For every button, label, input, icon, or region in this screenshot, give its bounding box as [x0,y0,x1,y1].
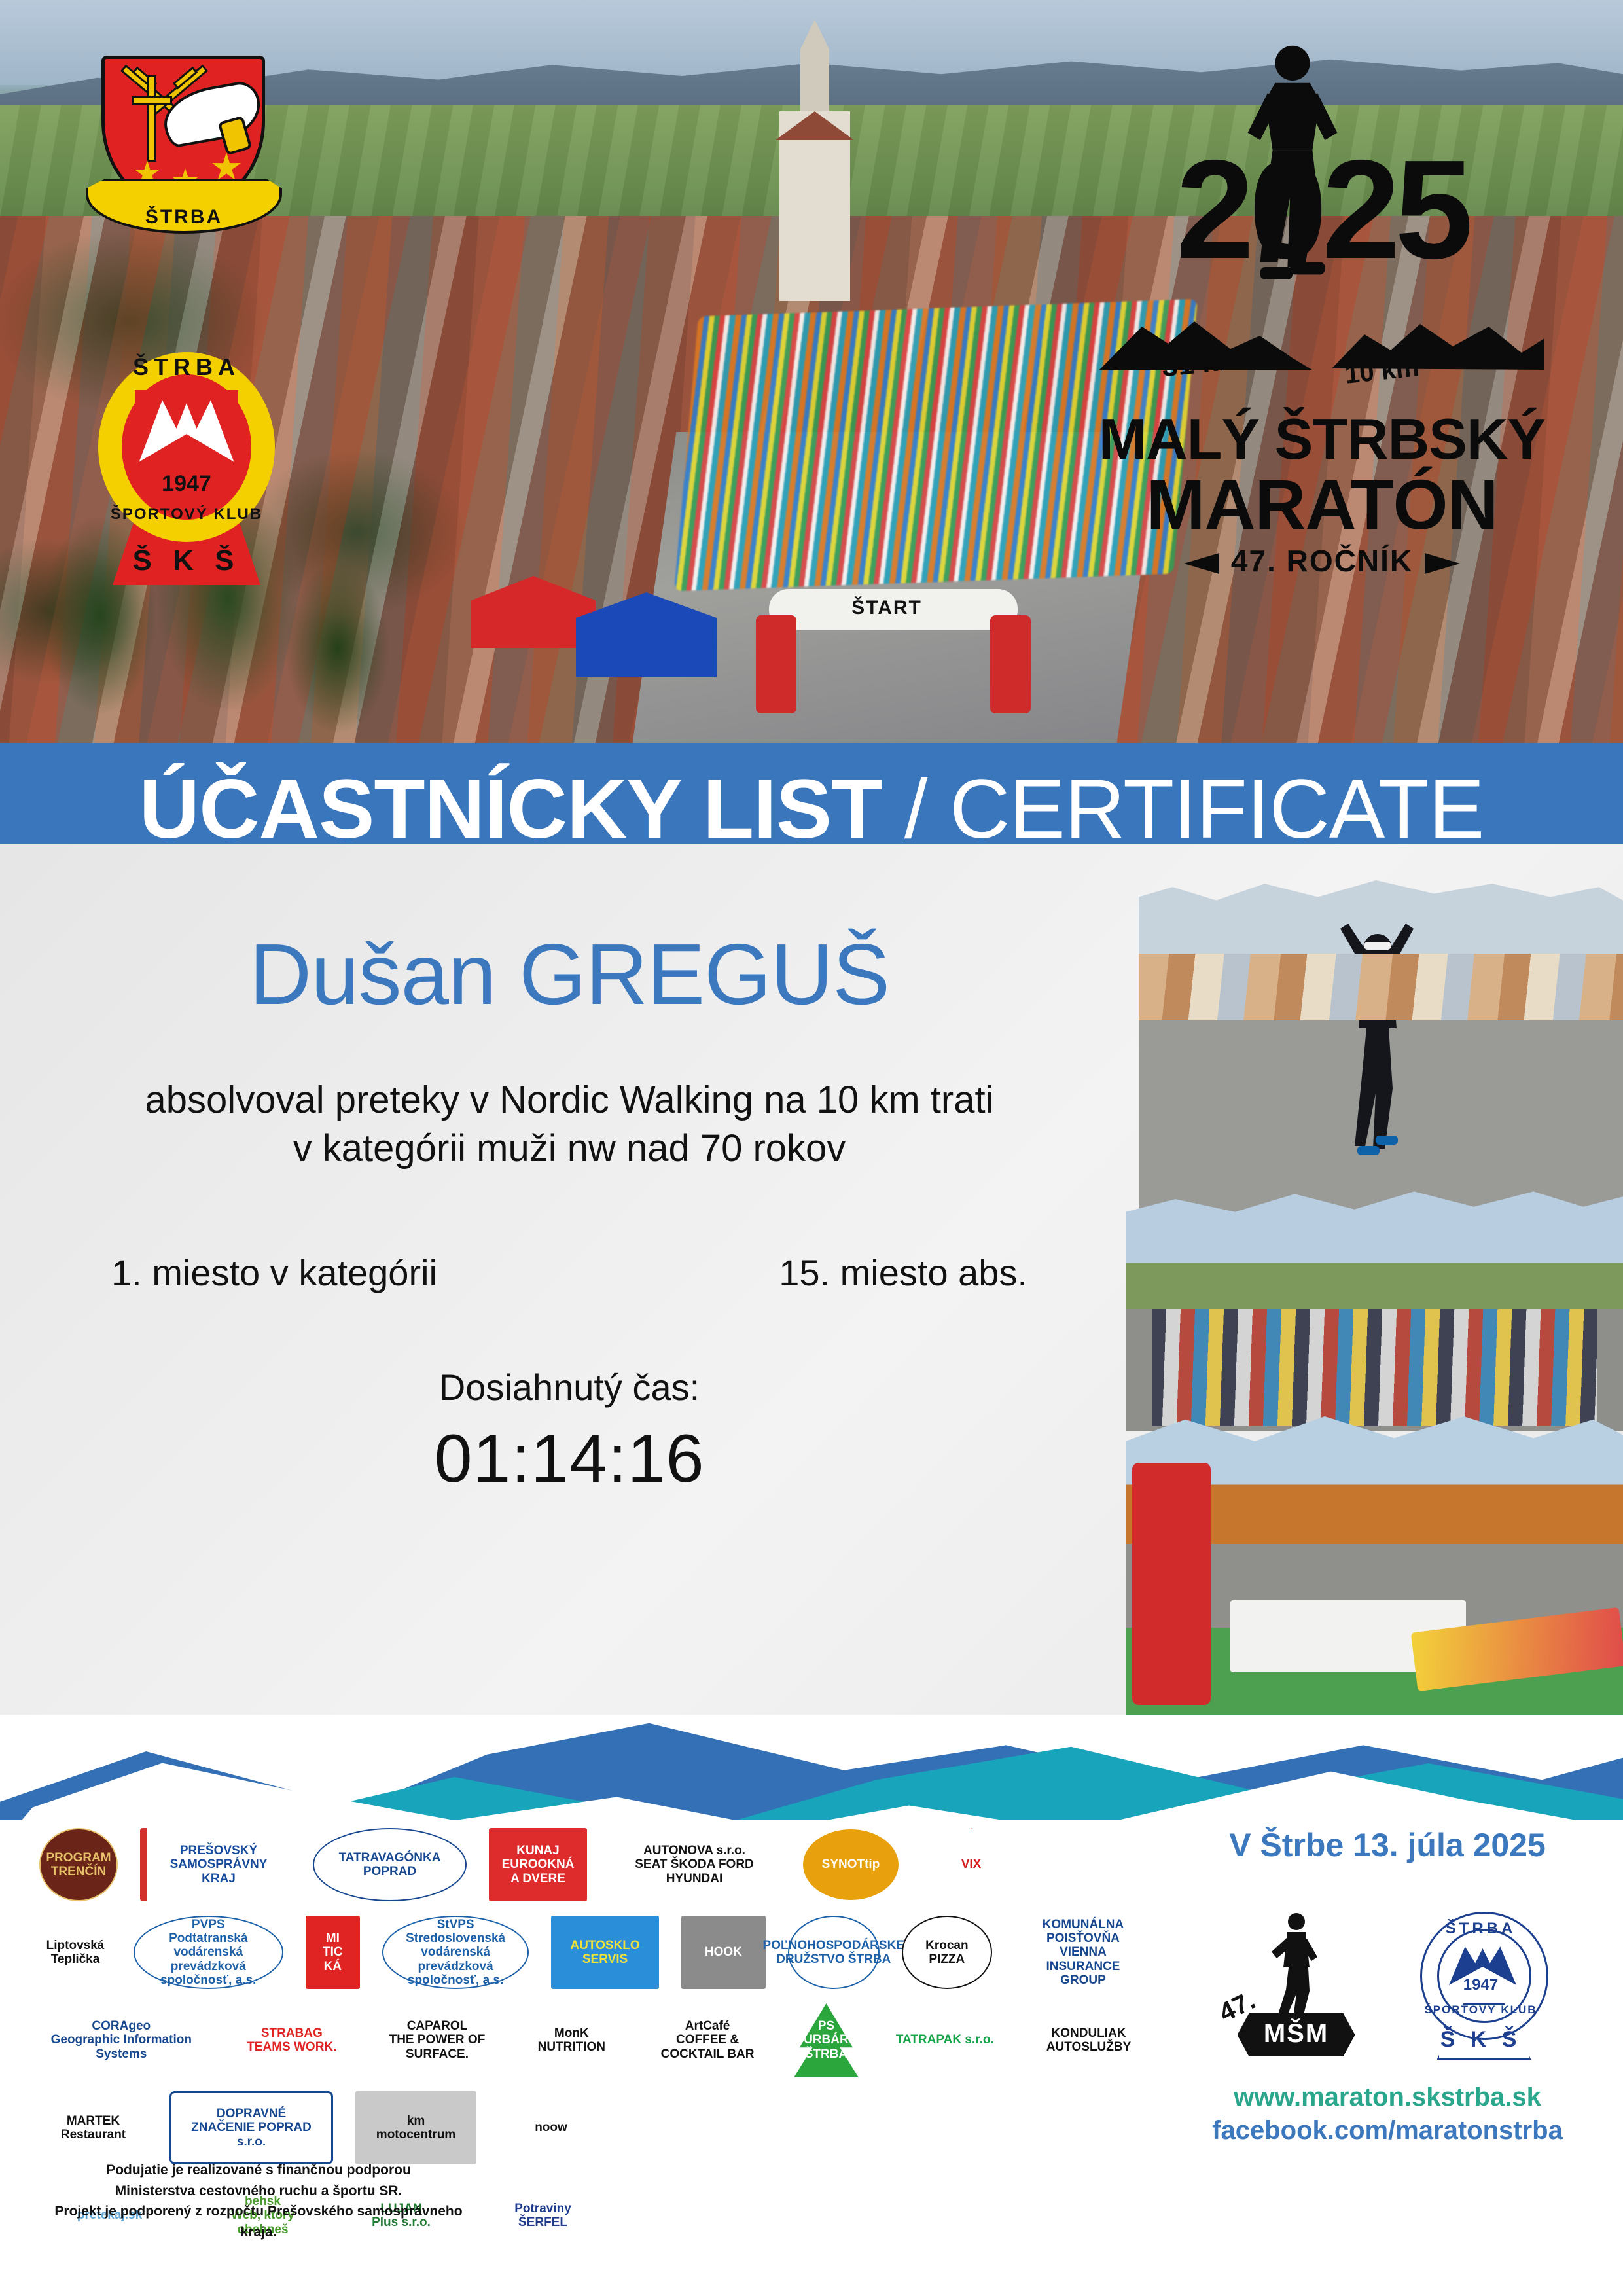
website-link[interactable]: www.maraton.skstrba.sk [1178,2083,1597,2112]
sponsor-logo-program-tren-n: PROGRAM TRENČÍN [39,1828,118,1901]
sponsor-logo-konduliak-autoslu-by: KONDULIAK AUTOSLUŽBY [1026,2003,1152,2077]
sponsor-label: DOPRAVNÉ ZNAČENIE POPRAD s.r.o. [179,2107,323,2149]
sponsor-logo-tatra-pak-s-r-o: TATRAPAK s.r.o. [887,2003,1004,2077]
female-runner-photo-subject [1335,920,1420,1168]
sponsor-label: Krocan PIZZA [925,1939,968,1967]
sponsor-logo-km-motocentrum: km motocentrum [355,2091,476,2164]
sponsor-logo-tatravag-nka-poprad: TATRAVAGÓNKA POPRAD [313,1828,467,1901]
sponsor-label: Liptovská Teplička [46,1939,105,1967]
sponsor-label: HOOK [705,1945,742,1959]
sponsor-logo-ps-urb-r-trba: PS URBÁR ŠTRBA [788,2003,864,2077]
photo-finish-female-runner [1139,880,1623,1214]
arrow-left-icon [1184,553,1219,574]
sponsor-label: AUTONOVA s.r.o. SEAT ŠKODA FORD HYUNDAI [617,1844,772,1886]
sponsor-label: Potraviny ŠERFEL [514,2202,571,2230]
sponsor-logo-mitick: MI TIC KÁ [306,1916,361,1989]
sponsor-label: AUTOSKLO SERVIS [570,1939,639,1967]
arrow-right-icon [1425,553,1460,574]
church-icon [776,20,854,301]
sponsor-label: PROGRAM TRENČÍN [46,1851,111,1879]
sks-stamp-logo: ŠTRBA 1947 ŠPORTOVÝ KLUB Š K Š [1406,1905,1556,2062]
msm-logo: 47. MŠM [1219,1909,1360,2059]
sponsor-logo-vix: VIX [922,1828,1020,1901]
msm-mark: MŠM [1238,2019,1355,2049]
finish-arch [1132,1463,1211,1705]
sks-stamp-top-text: ŠTRBA [1406,1920,1556,1938]
certificate-title-en: / CERTIFICATE [882,762,1484,856]
sponsor-row: PROGRAM TRENČÍNPREŠOVSKÝ SAMOSPRÁVNY KRA… [39,1826,1152,1903]
sponsor-logo-kunaj-eurookn-a-dvere: KUNAJ EUROOKNÁ A DVERE [489,1828,587,1901]
crest-ribbon-text: ŠTRBA [88,206,279,228]
start-arch: ŠTART [756,589,1031,713]
funding-note-line-1: Podujatie je realizované s finančnou pod… [36,2160,481,2181]
sponsor-logo-corageo: CORAgeo Geographic Information Systems [39,2003,204,2077]
certificate-title-sk: ÚČASTNÍCKY LIST [139,762,882,856]
sponsor-label: MI TIC KÁ [323,1931,343,1973]
sponsor-label: PVPS Podtatranská vodárenská prevádzková… [143,1918,274,1987]
sponsor-logo-autonova-s-r-o: AUTONOVA s.r.o. SEAT ŠKODA FORD HYUNDAI [609,1828,779,1901]
photo-finish-male-runner [1126,1404,1623,1715]
sks-bottom-text: Š K Š [98,545,275,577]
event-edition: 47. ROČNÍK [1231,544,1413,578]
event-title-line1: MALÝ ŠTRBSKÝ [1083,406,1561,473]
sks-club-logo: ŠTRBA 1947 ŠPORTOVÝ KLUB Š K Š [98,334,275,586]
hero-photo-aerial-village: ŠTART ŠTRBA ŠTRBA 1947 ŠPORTOVÝ KLUB Š K… [0,0,1623,743]
sponsor-label: CORAgeo Geographic Information Systems [47,2019,196,2061]
sponsor-logo-artcaf: ArtCafé COFFEE & COCKTAIL BAR [649,2003,766,2077]
sponsor-label: VIX [961,1857,982,1871]
funding-notes: Podujatie je realizované s finančnou pod… [36,2160,481,2242]
recipient-description: absolvoval preteky v Nordic Walking na 1… [0,1076,1139,1173]
place-in-category: 1. miesto v kategórii [111,1251,437,1294]
sponsor-label: StVPS Stredoslovenská vodárenská prevádz… [391,1918,520,1987]
event-edition-row: 47. ROČNÍK [1083,543,1561,579]
footer-logos: 47. MŠM ŠTRBA 1947 ŠPORTOVÝ KLUB Š K Š [1178,1902,1597,2066]
sponsor-label: CAPAROL THE POWER OF SURFACE. [388,2019,486,2061]
funding-note-line-2: Ministerstva cestovného ruchu a športu S… [36,2181,481,2202]
sponsor-logo-pvps-podtatransk-vod-rensk: PVPS Podtatranská vodárenská prevádzková… [134,1916,283,1989]
funding-note-line-3: Projekt je podporený z rozpočtu Prešovsk… [36,2201,481,2242]
sponsor-row: Liptovská TepličkaPVPS Podtatranská vodá… [39,1914,1152,1991]
sponsor-label: PS URBÁR ŠTRBA [796,2019,856,2061]
event-date: V Štrbe 13. júla 2025 [1178,1826,1597,1864]
sks-arc-text: ŠPORTOVÝ KLUB [98,505,275,524]
sponsor-label: TATRAVAGÓNKA POPRAD [339,1851,441,1879]
sponsor-label: noow [535,2121,567,2134]
sponsor-label: KONDULIAK AUTOSLUŽBY [1046,2026,1131,2054]
sponsor-label: TATRAPAK s.r.o. [896,2033,994,2047]
sponsor-logo-monk-nutrition: MonK NUTRITION [516,2003,627,2077]
certificate-title: ÚČASTNÍCKY LIST / CERTIFICATE [0,761,1623,857]
certificate-page: ŠTART ŠTRBA ŠTRBA 1947 ŠPORTOVÝ KLUB Š K… [0,0,1623,2296]
event-logo: 2025 31 km 10 km MALÝ ŠTRBSKÝ MARATÓN 47… [1083,39,1561,583]
sponsor-logo-krocan-pizza: Krocan PIZZA [902,1916,992,1989]
placement-row: 1. miesto v kategórii 15. miesto abs. [0,1251,1139,1294]
sponsor-label: MonK NUTRITION [538,2026,605,2054]
sponsor-label: km motocentrum [376,2114,455,2142]
photo-collage [1126,880,1623,1715]
sks-year: 1947 [98,471,275,497]
sponsor-logo-dopravn-zna-enie-poprad-s-r-o: DOPRAVNÉ ZNAČENIE POPRAD s.r.o. [169,2091,333,2164]
event-year: 2025 [1083,147,1561,271]
sponsor-logo-pre-ovsk-samospr-vny-kraj: PREŠOVSKÝ SAMOSPRÁVNY KRAJ [140,1828,291,1901]
sponsor-label: POĽNOHOSPODÁRSKE DRUŽSTVO ŠTRBA [763,1939,904,1967]
sponsor-label: KUNAJ EUROOKNÁ A DVERE [497,1844,579,1886]
sks-top-text: ŠTRBA [124,353,249,399]
sponsor-logo-hook: HOOK [681,1916,766,1989]
sponsor-label: SYNOTtip [822,1857,880,1871]
sponsor-logo-noow: noow [499,2091,603,2164]
start-arch-label: ŠTART [756,597,1018,619]
sponsor-row: MARTEK RestaurantDOPRAVNÉ ZNAČENIE POPRA… [39,2089,1152,2166]
recipient-name: Dušan GREGUŠ [0,929,1139,1020]
sponsor-row: CORAgeo Geographic Information SystemsST… [39,2001,1152,2079]
place-absolute: 15. miesto abs. [779,1251,1027,1294]
sponsor-logo-synot-tip: SYNOTtip [802,1828,900,1901]
finish-time: 01:14:16 [0,1420,1139,1498]
sponsor-logo-martek-restaurant: MARTEK Restaurant [39,2091,147,2164]
runner-line-art-icon [1266,1911,1325,2022]
footer-right-block: V Štrbe 13. júla 2025 47. MŠM [1178,1826,1597,2145]
sponsor-logo-obec-liptovsk-tepli-ka: Liptovská Teplička [39,1916,111,1989]
sks-stamp-bottom-text: Š K Š [1406,2027,1556,2053]
sponsor-logo-komun-lna-pois-ov-a: KOMUNÁLNA POISŤOVŇA VIENNA INSURANCE GRO… [1014,1916,1152,1989]
strba-coat-of-arms-logo: ŠTRBA [101,56,265,245]
sponsor-label: KOMUNÁLNA POISŤOVŇA VIENNA INSURANCE GRO… [1022,1918,1144,1987]
sponsor-logo-potraviny-erfel: Potraviny ŠERFEL [479,2179,607,2252]
sks-stamp-arc-text: ŠPORTOVÝ KLUB [1406,2003,1556,2017]
sponsor-label: STRABAG TEAMS WORK. [247,2026,336,2054]
event-title-line2: MARATÓN [1083,463,1561,545]
sponsor-label: ArtCafé COFFEE & COCKTAIL BAR [657,2019,758,2061]
facebook-link[interactable]: facebook.com/maratonstrba [1178,2116,1597,2145]
photo-runners-on-course [1126,1176,1623,1431]
sponsor-logo-pd-trba: POĽNOHOSPODÁRSKE DRUŽSTVO ŠTRBA [788,1916,880,1989]
footer: PROGRAM TRENČÍNPREŠOVSKÝ SAMOSPRÁVNY KRA… [0,1820,1623,2296]
sponsor-logo-autosklo-servis: AUTOSKLO SERVIS [551,1916,659,1989]
sponsor-logo-strabag: STRABAG TEAMS WORK. [226,2003,359,2077]
sponsor-label: PREŠOVSKÝ SAMOSPRÁVNY KRAJ [170,1844,268,1886]
description-line-2: v kategórii muži nw nad 70 rokov [0,1124,1139,1173]
sponsor-label: MARTEK Restaurant [61,2114,126,2142]
sks-stamp-year: 1947 [1406,1976,1556,1994]
sponsor-logo-caparol: CAPAROL THE POWER OF SURFACE. [380,2003,494,2077]
time-label: Dosiahnutý čas: [0,1366,1139,1408]
certificate-text-block: Dušan GREGUŠ absolvoval preteky v Nordic… [0,929,1139,1498]
description-line-1: absolvoval preteky v Nordic Walking na 1… [0,1076,1139,1124]
sponsor-logo-stvps-stredoslovensk-vod-rensk: StVPS Stredoslovenská vodárenská prevádz… [382,1916,529,1989]
